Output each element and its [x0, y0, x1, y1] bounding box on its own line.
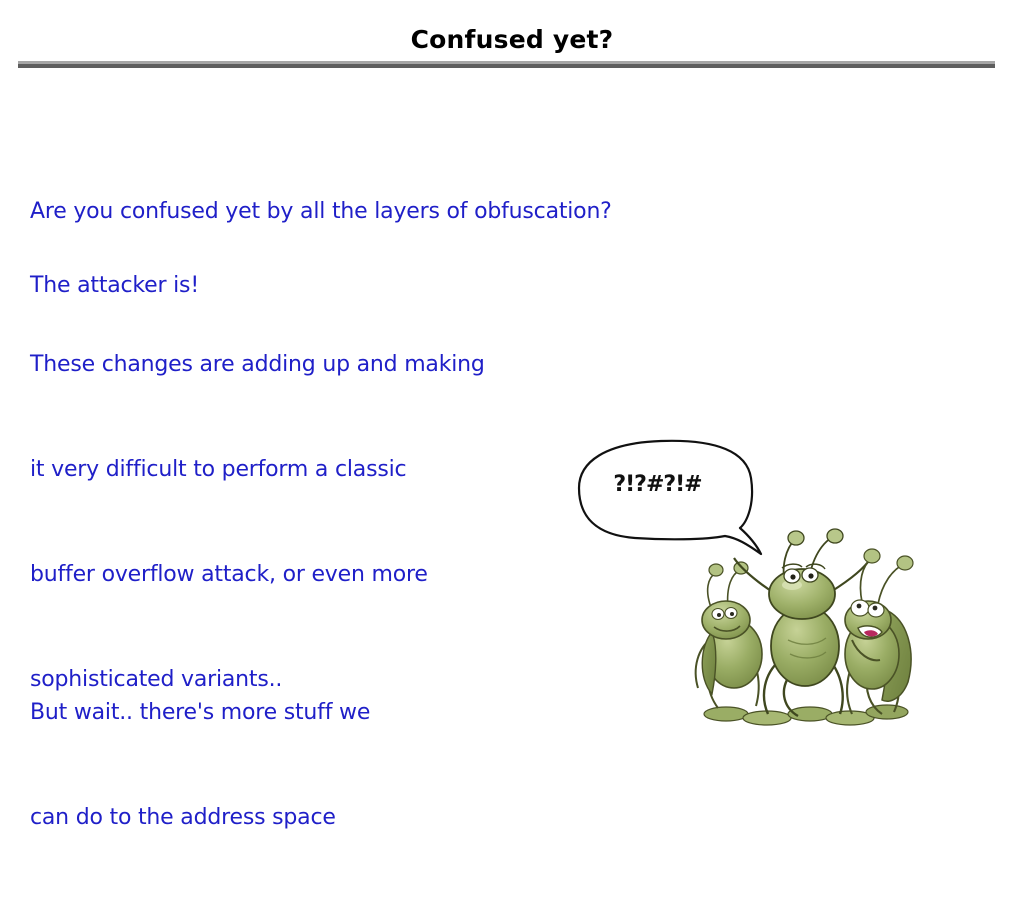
body-paragraph-4: But wait.. there's more stuff we can do …	[30, 625, 370, 905]
body-line: These changes are adding up and making	[30, 347, 485, 382]
bug-clipart-drawing	[682, 528, 922, 728]
bug-feet	[704, 705, 908, 725]
title-divider-dark-band	[18, 64, 995, 68]
speech-balloon-text: ?!?#?!#	[565, 472, 750, 497]
body-line: buffer overflow attack, or even more	[30, 557, 485, 592]
title-divider	[18, 61, 995, 68]
body-line: can do to the address space	[30, 800, 370, 835]
page-title: Confused yet?	[0, 25, 1024, 55]
slide-canvas: Confused yet? Are you confused yet by al…	[0, 0, 1024, 768]
body-line: it very difficult to perform a classic	[30, 452, 485, 487]
bug-left	[696, 562, 762, 708]
bug-clipart	[682, 528, 922, 728]
body-line: But wait.. there's more stuff we	[30, 695, 370, 730]
